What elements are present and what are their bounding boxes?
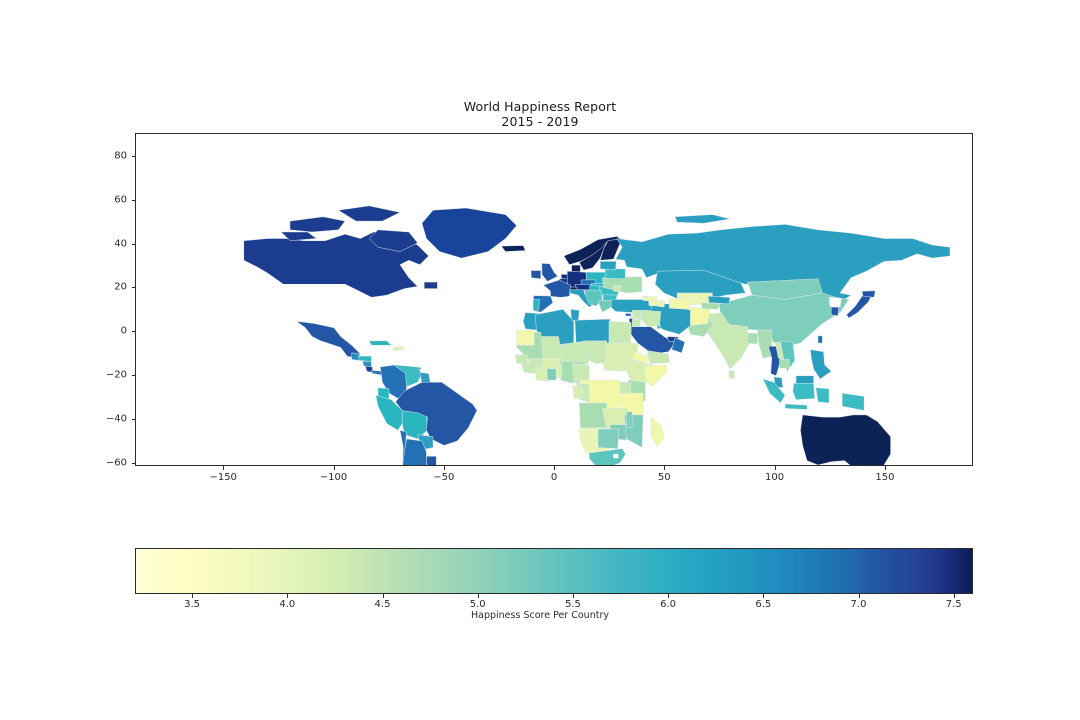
country-philippines — [810, 350, 831, 379]
country-somalia — [644, 365, 667, 387]
country-canada-newfoundland — [424, 282, 437, 289]
country-papua-new-guinea — [864, 396, 886, 413]
country-turkmenistan — [668, 298, 690, 309]
colorbar-tick-mark-7-0 — [859, 594, 860, 598]
country-greece — [598, 301, 612, 313]
colorbar-axis-label: Happiness Score Per Country — [0, 610, 1080, 621]
country-baltics — [600, 261, 616, 269]
xtick-label-150: 150 — [875, 472, 894, 483]
colorbar-tick-label-4-5: 4.5 — [375, 599, 391, 610]
country-trinidad — [419, 367, 421, 369]
country-taiwan — [818, 336, 822, 343]
ytick-mark-m40 — [132, 419, 136, 420]
colorbar-tick-label-7-0: 7.0 — [851, 599, 867, 610]
country-dominican-republic — [400, 347, 404, 350]
country-angola — [579, 403, 607, 428]
ytick-mark-0 — [132, 331, 136, 332]
country-south-korea — [831, 307, 839, 316]
colorbar-tick-label-5-0: 5.0 — [470, 599, 486, 610]
country-indonesia-sulawesi — [816, 388, 829, 403]
country-cyprus — [626, 313, 632, 316]
colorbar-tick-mark-6-5 — [763, 594, 764, 598]
country-sri-lanka — [729, 370, 735, 379]
xtick-mark-m50 — [444, 466, 445, 470]
ytick-mark-m20 — [132, 375, 136, 376]
country-cuba — [369, 341, 391, 345]
country-bangladesh — [748, 333, 758, 344]
colorbar-tick-mark-7-5 — [954, 594, 955, 598]
ytick-mark-20 — [132, 287, 136, 288]
country-argentina — [398, 439, 427, 465]
country-australia — [800, 415, 890, 465]
colorbar — [135, 548, 973, 594]
colorbar-tick-mark-4-5 — [383, 594, 384, 598]
country-myanmar — [758, 330, 772, 358]
ytick-label-20: 20 — [91, 282, 127, 293]
country-indonesia-java — [785, 404, 807, 409]
xtick-label-m50: −50 — [433, 472, 454, 483]
xtick-label-50: 50 — [658, 472, 671, 483]
xtick-mark-m150 — [223, 466, 224, 470]
colorbar-tick-mark-4-0 — [287, 594, 288, 598]
map-axes — [135, 133, 973, 466]
country-kyrgyzstan — [708, 296, 730, 304]
world-map-svg — [136, 134, 972, 465]
xtick-mark-50 — [664, 466, 665, 470]
country-gabon — [573, 386, 583, 399]
country-belarus — [605, 269, 625, 279]
ytick-label-m60: −60 — [87, 457, 127, 468]
ytick-label-80: 80 — [91, 150, 127, 161]
colorbar-tick-mark-5-0 — [478, 594, 479, 598]
country-indonesia-papua — [842, 393, 864, 410]
country-costa-rica — [365, 366, 372, 372]
xtick-label-0: 0 — [551, 472, 557, 483]
country-uruguay — [426, 456, 436, 465]
country-guinea — [521, 363, 538, 373]
country-tunisia — [571, 309, 580, 321]
country-polygons — [184, 206, 950, 465]
country-greenland — [422, 208, 517, 258]
ytick-label-m40: −40 — [87, 413, 127, 424]
choropleth-map — [136, 134, 972, 465]
country-united-kingdom — [542, 263, 558, 281]
country-azerbaijan — [655, 300, 665, 307]
colorbar-tick-mark-3-5 — [192, 594, 193, 598]
ytick-label-m20: −20 — [87, 369, 127, 380]
colorbar-tick-label-6-5: 6.5 — [755, 599, 771, 610]
country-egypt — [609, 321, 631, 343]
ytick-label-0: 0 — [91, 326, 127, 337]
ytick-mark-80 — [132, 156, 136, 157]
colorbar-tick-mark-5-5 — [573, 594, 574, 598]
country-honduras — [358, 356, 371, 361]
colorbar-tick-label-6-0: 6.0 — [660, 599, 676, 610]
country-russia-north-islands — [675, 215, 730, 224]
country-botswana — [598, 429, 619, 449]
xtick-mark-0 — [554, 466, 555, 470]
ytick-label-40: 40 — [91, 238, 127, 249]
colorbar-tick-label-3-5: 3.5 — [184, 599, 200, 610]
chart-title: World Happiness Report 2015 - 2019 — [0, 99, 1080, 129]
country-alaska — [184, 239, 243, 267]
ytick-mark-m60 — [132, 463, 136, 464]
ytick-mark-60 — [132, 200, 136, 201]
country-yemen — [648, 351, 670, 364]
country-senegal — [516, 354, 528, 363]
xtick-mark-100 — [775, 466, 776, 470]
country-denmark — [572, 265, 581, 272]
country-ivory-coast — [535, 368, 548, 381]
xtick-label-100: 100 — [765, 472, 784, 483]
country-cambodia — [780, 359, 790, 368]
chart-title-line2: 2015 - 2019 — [0, 114, 1080, 129]
country-portugal — [533, 300, 540, 311]
colorbar-tick-mark-6-0 — [668, 594, 669, 598]
country-canada-arctic-1 — [290, 217, 345, 232]
country-western-sahara — [517, 330, 535, 345]
chart-title-line1: World Happiness Report — [0, 99, 1080, 114]
country-canada-arctic-2 — [338, 206, 400, 221]
country-uganda — [619, 382, 631, 393]
ytick-label-60: 60 — [91, 194, 127, 205]
country-austria — [575, 284, 591, 290]
country-benin-togo — [556, 364, 562, 378]
xtick-label-m150: −150 — [209, 472, 236, 483]
country-tajikistan — [701, 303, 719, 310]
country-indonesia-borneo — [793, 383, 815, 399]
country-ireland — [531, 271, 541, 279]
country-lesotho — [613, 454, 618, 458]
colorbar-tick-label-5-5: 5.5 — [565, 599, 581, 610]
country-malawi — [627, 412, 633, 428]
country-iceland — [501, 245, 525, 251]
country-japan-hokkaido — [862, 291, 875, 298]
country-madagascar — [651, 417, 664, 446]
country-kuwait — [657, 326, 661, 329]
country-moldova — [613, 285, 621, 292]
ytick-mark-40 — [132, 244, 136, 245]
country-malaysia-borneo — [796, 376, 814, 384]
figure-canvas: World Happiness Report 2015 - 2019 — [0, 0, 1080, 720]
xtick-mark-150 — [885, 466, 886, 470]
colorbar-tick-label-4-0: 4.0 — [279, 599, 295, 610]
country-north-korea — [829, 297, 841, 307]
colorbar-tick-label-7-5: 7.5 — [946, 599, 962, 610]
xtick-mark-m100 — [334, 466, 335, 470]
country-iraq — [640, 310, 661, 326]
country-jordan — [632, 319, 641, 327]
xtick-label-m100: −100 — [320, 472, 347, 483]
